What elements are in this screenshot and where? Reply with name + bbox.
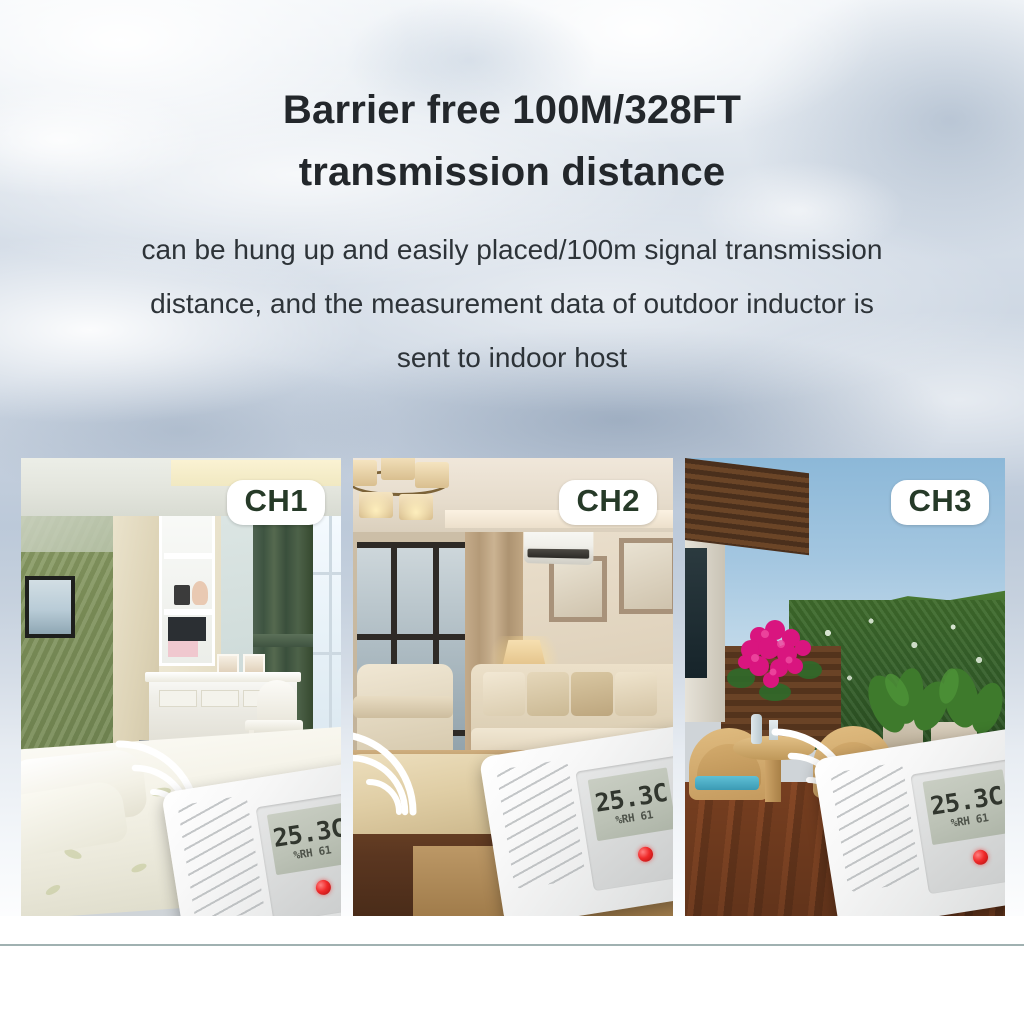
channel-panel-ch1: 25.3C %RH 61 CH1: [21, 458, 341, 916]
wall-picture-frame: [25, 576, 75, 638]
chandelier: [353, 458, 455, 536]
sofa-cushion: [571, 672, 613, 716]
subtitle-line-3: sent to indoor host: [0, 344, 1024, 372]
window-mullion: [309, 652, 341, 655]
bedroom-window: [309, 502, 341, 752]
red-led-indicator: [972, 848, 989, 865]
channel-badge-ch2: CH2: [559, 480, 657, 525]
device-lcd-screen: 25.3C %RH 61: [267, 803, 341, 876]
potted-plants: [861, 646, 1005, 742]
shelf: [164, 609, 214, 615]
section-divider: [0, 944, 1024, 946]
chair-cushion: [695, 776, 759, 790]
wireless-sensor-device: 25.3C %RH 61: [479, 724, 673, 916]
wall-picture-frame: [619, 538, 673, 614]
subtitle-line-1: can be hung up and easily placed/100m si…: [0, 236, 1024, 264]
desk-drawer: [201, 690, 239, 707]
sofa-cushion: [615, 672, 657, 716]
channel-badge-ch1: CH1: [227, 480, 325, 525]
channel-badge-ch3: CH3: [891, 480, 989, 525]
red-led-indicator: [315, 879, 332, 896]
shelf-object: [168, 617, 206, 641]
heading-block: Barrier free 100M/328FT transmission dis…: [0, 0, 1024, 372]
armchair-arm: [353, 696, 453, 718]
picture-image: [624, 543, 672, 609]
shelf-object: [174, 585, 190, 605]
sofa-cushion: [527, 672, 569, 716]
page-title-line-2: transmission distance: [0, 152, 1024, 192]
shelf: [164, 553, 214, 559]
pergola-slats: [685, 458, 809, 555]
chandelier-shade: [353, 460, 377, 486]
channel-panel-row: 25.3C %RH 61 CH1: [21, 458, 1005, 916]
red-led-indicator: [637, 845, 654, 862]
chair-back: [257, 680, 297, 722]
ac-vent: [528, 549, 590, 559]
desk-drawer: [159, 690, 197, 707]
sofa-cushion: [483, 672, 525, 716]
chandelier-shade: [381, 458, 415, 480]
bougainvillea-flowers: [725, 616, 829, 702]
chandelier-glow: [359, 492, 393, 518]
bottle: [751, 714, 762, 744]
lcd-temperature-value: 25.3C: [271, 814, 341, 850]
bottom-white-area: [0, 916, 1024, 1024]
channel-panel-ch2: 25.3C %RH 61 CH2: [353, 458, 673, 916]
bedroom-shelf-niche: [159, 506, 215, 666]
channel-panel-ch3: 25.3C %RH 61 CH3: [685, 458, 1005, 916]
picture-image: [29, 580, 71, 634]
window-mullion: [309, 572, 341, 575]
window-mullion: [329, 502, 332, 752]
wireless-sensor-device: 25.3C %RH 61: [813, 726, 1005, 916]
window-frame: [357, 542, 469, 548]
picture-image: [554, 561, 602, 617]
device-front-panel: 25.3C %RH 61: [576, 755, 673, 890]
subtitle-line-2: distance, and the measurement data of ou…: [0, 290, 1024, 318]
shelf-object: [168, 641, 198, 657]
chandelier-glow: [399, 494, 433, 520]
window-frame: [357, 634, 469, 640]
balcony-door: [685, 548, 707, 678]
chandelier-shade: [415, 462, 449, 488]
wall-picture-frame: [549, 556, 607, 622]
wifi-signal-icon: [353, 716, 431, 816]
shelf-object: [192, 581, 208, 605]
page-title-line-1: Barrier free 100M/328FT: [0, 90, 1024, 130]
curtain-tieback: [253, 634, 313, 647]
device-lcd-screen: 25.3C %RH 61: [922, 770, 1005, 845]
device-lcd-screen: 25.3C %RH 61: [588, 767, 673, 841]
